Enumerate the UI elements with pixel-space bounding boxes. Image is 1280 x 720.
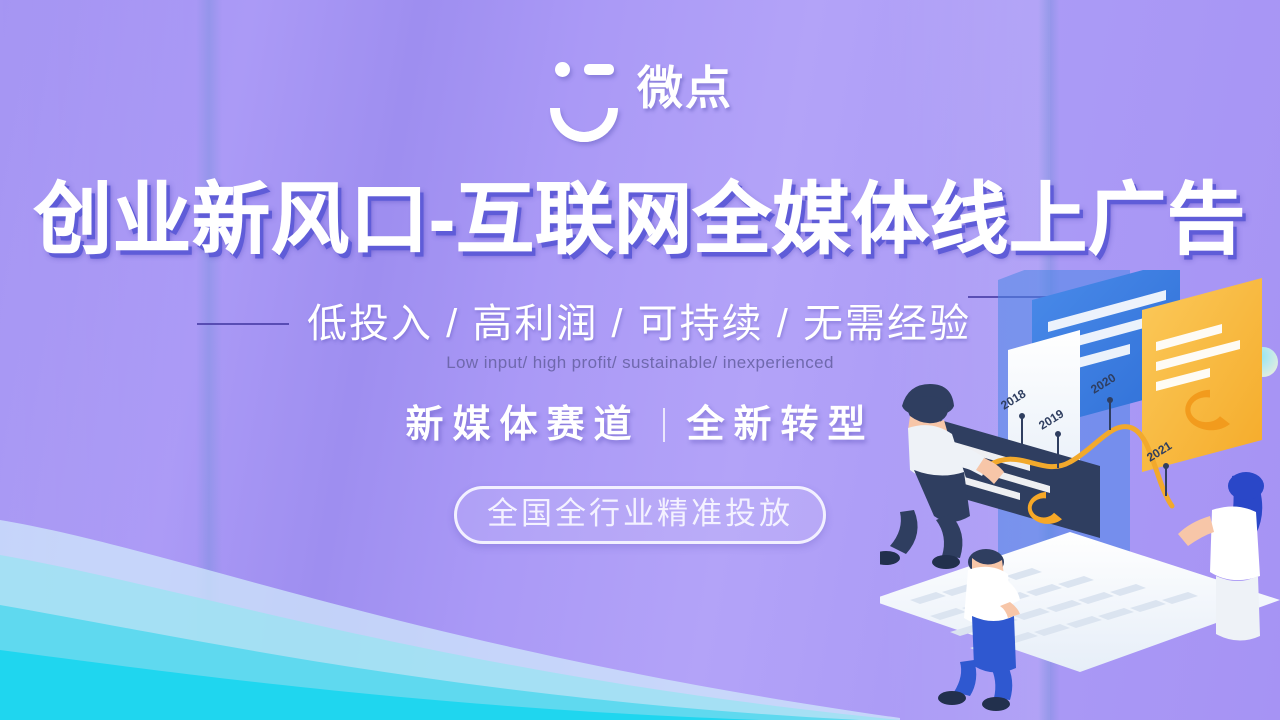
brand-name: 微点 bbox=[637, 65, 733, 111]
smiley-eye-dot bbox=[555, 62, 570, 77]
tagline-divider bbox=[663, 408, 665, 442]
isometric-illustration: 2018 2019 2020 2021 bbox=[880, 270, 1280, 720]
wave-decoration bbox=[0, 400, 900, 720]
promo-banner: 微点 创业新风口-互联网全媒体线上广告 低投入 / 高利润 / 可持续 / 无需… bbox=[0, 0, 1280, 720]
subtitle-cn: 低投入 / 高利润 / 可持续 / 无需经验 bbox=[307, 304, 971, 344]
brand-logo: 微点 bbox=[0, 52, 1280, 124]
tagline-left: 新媒体赛道 bbox=[405, 406, 640, 444]
smiley-face-icon bbox=[547, 52, 621, 124]
smiley-mouth bbox=[550, 74, 618, 142]
page-title: 创业新风口-互联网全媒体线上广告 bbox=[0, 180, 1280, 258]
tagline-right: 全新转型 bbox=[687, 406, 875, 444]
status-badge[interactable]: 全国全行业精准投放 bbox=[454, 486, 826, 544]
rule-left bbox=[197, 323, 289, 325]
